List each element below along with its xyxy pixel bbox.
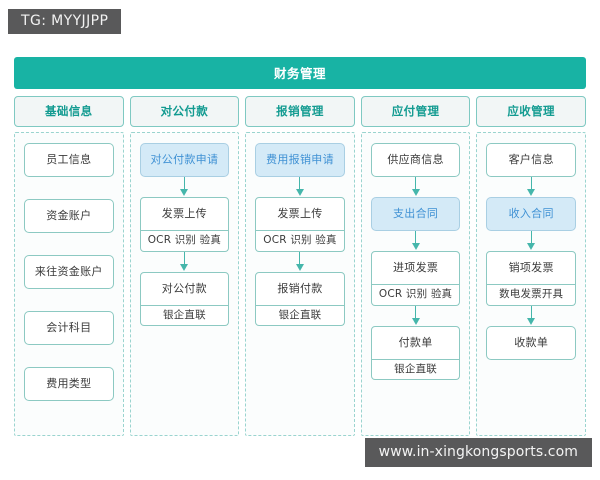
flow-node[interactable]: 销项发票数电发票开具 xyxy=(486,251,576,306)
flow-arrow-icon xyxy=(371,306,461,326)
flow-arrow-icon xyxy=(371,231,461,251)
node-label[interactable]: 报销付款 xyxy=(255,272,345,306)
flow-node[interactable]: 付款单银企直联 xyxy=(371,326,461,381)
flow-arrow-icon xyxy=(255,252,345,272)
column-body: 员工信息资金账户来往资金账户会计科目费用类型 xyxy=(14,132,124,436)
node-sublabel: 数电发票开具 xyxy=(486,285,576,306)
arrow-head xyxy=(412,189,420,196)
flow-node[interactable]: 发票上传OCR 识别 验真 xyxy=(255,197,345,252)
arrow-head xyxy=(180,189,188,196)
node-label[interactable]: 客户信息 xyxy=(486,143,576,177)
flow-node[interactable]: 收款单 xyxy=(486,326,576,360)
flow-arrow-icon xyxy=(371,177,461,197)
financial-management-diagram: 财务管理 基础信息员工信息资金账户来往资金账户会计科目费用类型对公付款对公付款申… xyxy=(14,57,586,436)
column-body: 供应商信息支出合同进项发票OCR 识别 验真付款单银企直联 xyxy=(361,132,471,436)
node-label[interactable]: 收入合同 xyxy=(486,197,576,231)
node-label[interactable]: 供应商信息 xyxy=(371,143,461,177)
node-label[interactable]: 收款单 xyxy=(486,326,576,360)
flow-arrow-icon xyxy=(255,177,345,197)
spacer xyxy=(24,289,114,311)
node-label[interactable]: 费用报销申请 xyxy=(255,143,345,177)
node-label[interactable]: 资金账户 xyxy=(24,199,114,233)
diagram-column: 应付管理供应商信息支出合同进项发票OCR 识别 验真付款单银企直联 xyxy=(361,96,471,436)
flow-node[interactable]: 员工信息 xyxy=(24,143,114,177)
diagram-column: 对公付款对公付款申请发票上传OCR 识别 验真对公付款银企直联 xyxy=(130,96,240,436)
diagram-column: 基础信息员工信息资金账户来往资金账户会计科目费用类型 xyxy=(14,96,124,436)
diagram-column: 报销管理费用报销申请发票上传OCR 识别 验真报销付款银企直联 xyxy=(245,96,355,436)
flow-node[interactable]: 资金账户 xyxy=(24,199,114,233)
flow-arrow-icon xyxy=(140,177,230,197)
arrow-head xyxy=(527,318,535,325)
arrow-head xyxy=(527,243,535,250)
flow-node[interactable]: 会计科目 xyxy=(24,311,114,345)
arrow-head xyxy=(527,189,535,196)
node-label[interactable]: 费用类型 xyxy=(24,367,114,401)
node-sublabel: 银企直联 xyxy=(371,360,461,381)
column-header-2[interactable]: 报销管理 xyxy=(245,96,355,127)
node-sublabel: OCR 识别 验真 xyxy=(371,285,461,306)
column-header-3[interactable]: 应付管理 xyxy=(361,96,471,127)
node-label[interactable]: 发票上传 xyxy=(255,197,345,231)
arrow-head xyxy=(180,264,188,271)
node-sublabel: OCR 识别 验真 xyxy=(255,231,345,252)
diagram-columns: 基础信息员工信息资金账户来往资金账户会计科目费用类型对公付款对公付款申请发票上传… xyxy=(14,96,586,436)
spacer xyxy=(24,233,114,255)
flow-node[interactable]: 进项发票OCR 识别 验真 xyxy=(371,251,461,306)
flow-node[interactable]: 对公付款银企直联 xyxy=(140,272,230,327)
spacer xyxy=(24,345,114,367)
column-body: 客户信息收入合同销项发票数电发票开具收款单 xyxy=(476,132,586,436)
diagram-title: 财务管理 xyxy=(14,57,586,89)
node-label[interactable]: 来往资金账户 xyxy=(24,255,114,289)
flow-node[interactable]: 客户信息 xyxy=(486,143,576,177)
diagram-column: 应收管理客户信息收入合同销项发票数电发票开具收款单 xyxy=(476,96,586,436)
column-header-1[interactable]: 对公付款 xyxy=(130,96,240,127)
watermark: www.in-xingkongsports.com xyxy=(365,438,592,467)
node-label[interactable]: 对公付款申请 xyxy=(140,143,230,177)
flow-arrow-icon xyxy=(486,177,576,197)
node-sublabel: OCR 识别 验真 xyxy=(140,231,230,252)
flow-arrow-icon xyxy=(486,306,576,326)
arrow-head xyxy=(412,243,420,250)
tg-tag: TG: MYYJJPP xyxy=(8,9,121,34)
flow-node[interactable]: 报销付款银企直联 xyxy=(255,272,345,327)
node-label[interactable]: 支出合同 xyxy=(371,197,461,231)
node-sublabel: 银企直联 xyxy=(255,306,345,327)
spacer xyxy=(24,177,114,199)
arrow-head xyxy=(412,318,420,325)
node-label[interactable]: 发票上传 xyxy=(140,197,230,231)
node-label[interactable]: 销项发票 xyxy=(486,251,576,285)
node-label[interactable]: 进项发票 xyxy=(371,251,461,285)
node-label[interactable]: 付款单 xyxy=(371,326,461,360)
column-header-0[interactable]: 基础信息 xyxy=(14,96,124,127)
flow-node[interactable]: 收入合同 xyxy=(486,197,576,231)
node-label[interactable]: 对公付款 xyxy=(140,272,230,306)
flow-arrow-icon xyxy=(486,231,576,251)
flow-node[interactable]: 费用类型 xyxy=(24,367,114,401)
node-sublabel: 银企直联 xyxy=(140,306,230,327)
flow-arrow-icon xyxy=(140,252,230,272)
node-label[interactable]: 员工信息 xyxy=(24,143,114,177)
column-body: 费用报销申请发票上传OCR 识别 验真报销付款银企直联 xyxy=(245,132,355,436)
arrow-head xyxy=(296,189,304,196)
arrow-head xyxy=(296,264,304,271)
flow-node[interactable]: 支出合同 xyxy=(371,197,461,231)
column-body: 对公付款申请发票上传OCR 识别 验真对公付款银企直联 xyxy=(130,132,240,436)
flow-node[interactable]: 来往资金账户 xyxy=(24,255,114,289)
column-header-4[interactable]: 应收管理 xyxy=(476,96,586,127)
flow-node[interactable]: 对公付款申请 xyxy=(140,143,230,177)
node-label[interactable]: 会计科目 xyxy=(24,311,114,345)
flow-node[interactable]: 发票上传OCR 识别 验真 xyxy=(140,197,230,252)
flow-node[interactable]: 供应商信息 xyxy=(371,143,461,177)
flow-node[interactable]: 费用报销申请 xyxy=(255,143,345,177)
